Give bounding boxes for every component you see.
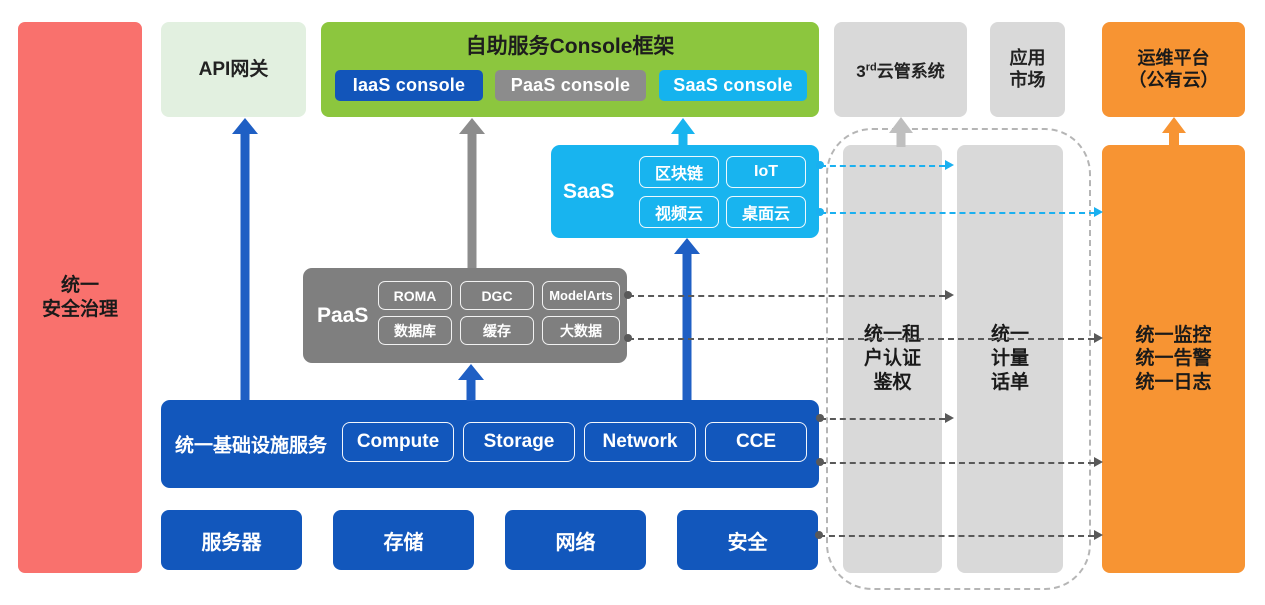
connector-paas-to-auth: [628, 295, 945, 297]
self-service-console-framework: 自助服务Console框架 IaaS console PaaS console …: [321, 22, 819, 117]
arrow-head-right-icon: [1094, 530, 1103, 540]
architecture-diagram: 统一 安全治理 API网关 自助服务Console框架 IaaS console…: [0, 0, 1265, 605]
arrow-shaft: [241, 132, 250, 400]
unified-security-governance-pillar: 统一 安全治理: [18, 22, 142, 573]
arrow-shaft: [1169, 132, 1179, 147]
arrow-saas-to-console: [669, 118, 697, 146]
unified-infrastructure-service-bar: 统一基础设施服务 Compute Storage Network CCE: [161, 400, 819, 488]
paas-service-bigdata[interactable]: 大数据: [542, 316, 620, 345]
iaas-service-compute[interactable]: Compute: [342, 422, 454, 462]
unified-monitoring-pillar: 统一监控 统一告警 统一日志: [1102, 145, 1245, 573]
arrow-head-right-icon: [1094, 207, 1103, 217]
connector-paas-to-ops: [628, 338, 1094, 340]
resource-box-server[interactable]: 服务器: [161, 510, 302, 570]
arrow-head-right-icon: [945, 290, 954, 300]
connector-iaas-to-ops: [820, 462, 1094, 464]
arrow-head-up-icon: [458, 364, 484, 380]
iaas-service-network[interactable]: Network: [584, 422, 696, 462]
arrow-shaft: [897, 132, 906, 147]
paas-console-chip[interactable]: PaaS console: [495, 70, 646, 101]
iaas-service-cce[interactable]: CCE: [705, 422, 807, 462]
arrow-iaas-to-saas: [672, 238, 702, 400]
console-framework-title: 自助服务Console框架: [321, 30, 819, 60]
paas-layer-block: PaaS ROMA DGC ModelArts 数据库 缓存 大数据: [303, 268, 627, 363]
api-gateway-box: API网关: [161, 22, 306, 117]
arrow-head-right-icon: [1094, 333, 1103, 343]
iaas-layer-label: 统一基础设施服务: [175, 431, 327, 458]
saas-layer-block: SaaS 区块链 IoT 视频云 桌面云: [551, 145, 819, 238]
iaas-console-chip[interactable]: IaaS console: [335, 70, 483, 101]
arrow-head-up-icon: [459, 118, 485, 134]
connector-saas-to-ops: [820, 212, 1095, 214]
unified-metering-billing-column: 统一 计量 话单: [957, 145, 1063, 573]
arrow-head-right-icon: [945, 160, 954, 170]
arrow-head-up-icon: [889, 117, 913, 133]
resource-box-network[interactable]: 网络: [505, 510, 646, 570]
paas-service-modelarts[interactable]: ModelArts: [542, 281, 620, 310]
arrow-shared-to-third-party: [886, 117, 916, 147]
saas-service-blockchain[interactable]: 区块链: [639, 156, 719, 188]
connector-resources-to-ops: [819, 535, 1094, 537]
arrow-paas-to-console: [457, 118, 487, 268]
arrow-head-up-icon: [671, 118, 695, 134]
paas-service-dgc[interactable]: DGC: [460, 281, 534, 310]
arrow-head-up-icon: [232, 118, 258, 134]
iaas-service-storage[interactable]: Storage: [463, 422, 575, 462]
unified-tenant-auth-column: 统一租 户认证 鉴权: [843, 145, 942, 573]
paas-service-roma[interactable]: ROMA: [378, 281, 452, 310]
arrow-head-right-icon: [1094, 457, 1103, 467]
arrow-iaas-to-paas: [456, 364, 486, 401]
connector-iaas-to-auth: [820, 418, 945, 420]
paas-layer-label: PaaS: [317, 304, 368, 328]
resource-box-security[interactable]: 安全: [677, 510, 818, 570]
arrow-iaas-to-api-gateway: [230, 118, 260, 400]
arrow-head-up-icon: [674, 238, 700, 254]
third-party-label: 3rd云管系统: [856, 57, 944, 82]
third-party-cloud-management-box: 3rd云管系统: [834, 22, 967, 117]
saas-console-chip[interactable]: SaaS console: [659, 70, 807, 101]
arrow-ops-pillar-to-ops-platform: [1159, 117, 1189, 147]
arrow-shaft: [683, 252, 692, 400]
saas-service-video-cloud[interactable]: 视频云: [639, 196, 719, 228]
arrow-shaft: [467, 379, 476, 401]
resource-box-storage[interactable]: 存储: [333, 510, 474, 570]
app-market-box: 应用 市场: [990, 22, 1065, 117]
saas-layer-label: SaaS: [563, 180, 614, 204]
connector-saas-to-auth: [820, 165, 945, 167]
arrow-shaft: [468, 132, 477, 268]
arrow-head-right-icon: [945, 413, 954, 423]
saas-service-desktop-cloud[interactable]: 桌面云: [726, 196, 806, 228]
arrow-head-up-icon: [1162, 117, 1186, 133]
saas-service-iot[interactable]: IoT: [726, 156, 806, 188]
ops-platform-public-cloud-box: 运维平台 （公有云）: [1102, 22, 1245, 117]
arrow-shaft: [679, 132, 688, 146]
paas-service-database[interactable]: 数据库: [378, 316, 452, 345]
paas-service-cache[interactable]: 缓存: [460, 316, 534, 345]
